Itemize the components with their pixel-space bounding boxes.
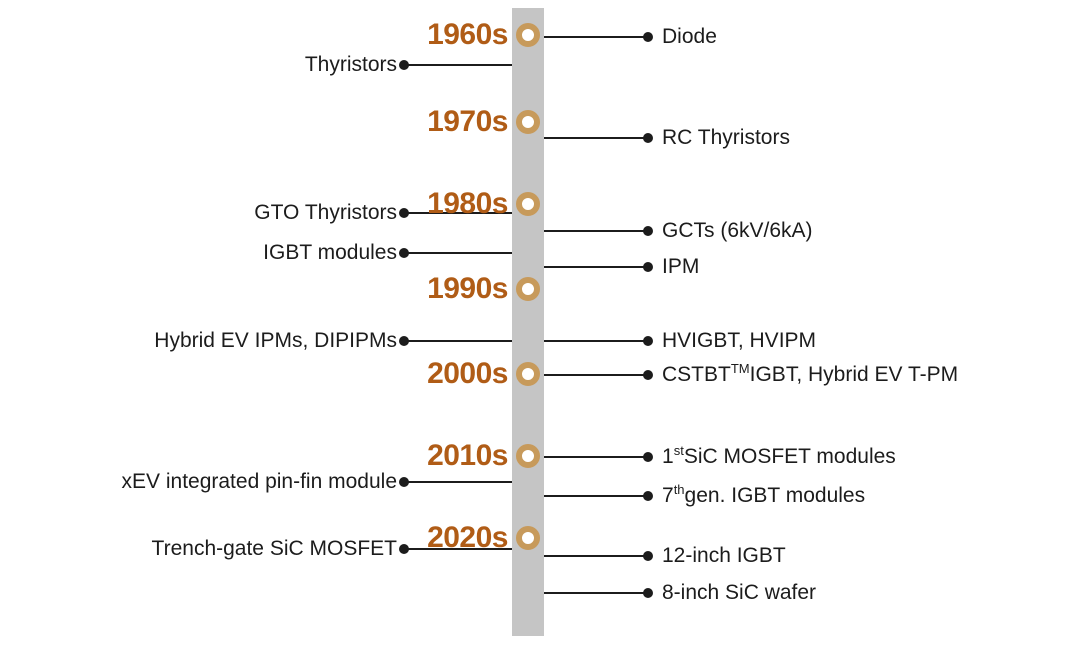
event-text: 8-inch SiC wafer bbox=[662, 581, 816, 605]
superscript: TM bbox=[731, 361, 750, 376]
connector-dot-right bbox=[643, 133, 653, 143]
decade-label: 1980s bbox=[427, 187, 508, 221]
decade-ring-marker bbox=[516, 192, 540, 216]
decade-label: 1970s bbox=[427, 105, 508, 139]
event-label-right: 1st SiC MOSFET modules bbox=[662, 445, 896, 469]
event-text: RC Thyristors bbox=[662, 126, 790, 150]
connector-line-right bbox=[544, 230, 648, 232]
connector-dot-left bbox=[399, 248, 409, 258]
connector-line-right bbox=[544, 456, 648, 458]
event-text: 12-inch IGBT bbox=[662, 544, 786, 568]
event-label-left: xEV integrated pin-fin module bbox=[122, 470, 398, 494]
connector-dot-left bbox=[399, 60, 409, 70]
event-label-left: Thyristors bbox=[305, 53, 397, 77]
event-label-left: Trench-gate SiC MOSFET bbox=[152, 537, 397, 561]
connector-dot-right bbox=[643, 262, 653, 272]
event-label-right: Diode bbox=[662, 25, 717, 49]
decade-ring-marker bbox=[516, 277, 540, 301]
event-label-left: GTO Thyristors bbox=[254, 201, 397, 225]
superscript: st bbox=[674, 443, 684, 458]
connector-dot-right bbox=[643, 370, 653, 380]
connector-dot-right bbox=[643, 226, 653, 236]
event-text: IPM bbox=[662, 255, 699, 279]
event-label-right: 12-inch IGBT bbox=[662, 544, 786, 568]
connector-line-right bbox=[544, 592, 648, 594]
event-text-tail: IGBT, Hybrid EV T-PM bbox=[750, 363, 959, 387]
connector-dot-right bbox=[643, 491, 653, 501]
event-label-right: RC Thyristors bbox=[662, 126, 790, 150]
decade-ring-marker bbox=[516, 110, 540, 134]
decade-label: 2000s bbox=[427, 357, 508, 391]
connector-line-right bbox=[544, 374, 648, 376]
event-text: GCTs (6kV/6kA) bbox=[662, 219, 813, 243]
connector-line-left bbox=[404, 252, 512, 254]
decade-label: 1990s bbox=[427, 272, 508, 306]
event-text-tail: SiC MOSFET modules bbox=[684, 445, 896, 469]
connector-dot-left bbox=[399, 544, 409, 554]
event-text: HVIGBT, HVIPM bbox=[662, 329, 816, 353]
event-text: 1 bbox=[662, 445, 674, 469]
connector-line-left bbox=[404, 64, 512, 66]
event-text: xEV integrated pin-fin module bbox=[122, 470, 398, 494]
event-label-left: IGBT modules bbox=[263, 241, 397, 265]
connector-line-right bbox=[544, 555, 648, 557]
event-label-right: 7th gen. IGBT modules bbox=[662, 484, 865, 508]
connector-line-right bbox=[544, 137, 648, 139]
connector-line-right bbox=[544, 340, 648, 342]
event-text: IGBT modules bbox=[263, 241, 397, 265]
decade-ring-marker bbox=[516, 23, 540, 47]
connector-dot-left bbox=[399, 336, 409, 346]
decade-ring-marker bbox=[516, 444, 540, 468]
event-text: GTO Thyristors bbox=[254, 201, 397, 225]
event-text: Trench-gate SiC MOSFET bbox=[152, 537, 397, 561]
connector-dot-right bbox=[643, 551, 653, 561]
superscript: th bbox=[674, 482, 685, 497]
connector-dot-right bbox=[643, 452, 653, 462]
connector-line-left bbox=[404, 340, 512, 342]
connector-dot-left bbox=[399, 477, 409, 487]
event-text: Diode bbox=[662, 25, 717, 49]
event-label-right: GCTs (6kV/6kA) bbox=[662, 219, 813, 243]
connector-line-right bbox=[544, 495, 648, 497]
decade-ring-marker bbox=[516, 526, 540, 550]
connector-line-right bbox=[544, 36, 648, 38]
event-text: Thyristors bbox=[305, 53, 397, 77]
event-label-right: IPM bbox=[662, 255, 699, 279]
event-label-left: Hybrid EV IPMs, DIPIPMs bbox=[154, 329, 397, 353]
event-text: Hybrid EV IPMs, DIPIPMs bbox=[154, 329, 397, 353]
decade-label: 2010s bbox=[427, 439, 508, 473]
connector-dot-right bbox=[643, 336, 653, 346]
connector-dot-right bbox=[643, 588, 653, 598]
timeline-diagram: ThyristorsGTO ThyristorsIGBT modulesHybr… bbox=[0, 0, 1080, 651]
connector-line-left bbox=[404, 481, 512, 483]
connector-dot-right bbox=[643, 32, 653, 42]
decade-ring-marker bbox=[516, 362, 540, 386]
connector-dot-left bbox=[399, 208, 409, 218]
connector-line-right bbox=[544, 266, 648, 268]
event-label-right: CSTBTTM IGBT, Hybrid EV T-PM bbox=[662, 363, 958, 387]
event-label-right: HVIGBT, HVIPM bbox=[662, 329, 816, 353]
event-text-tail: gen. IGBT modules bbox=[685, 484, 866, 508]
event-text: CSTBT bbox=[662, 363, 731, 387]
decade-label: 1960s bbox=[427, 18, 508, 52]
event-text: 7 bbox=[662, 484, 674, 508]
decade-label: 2020s bbox=[427, 521, 508, 555]
event-label-right: 8-inch SiC wafer bbox=[662, 581, 816, 605]
